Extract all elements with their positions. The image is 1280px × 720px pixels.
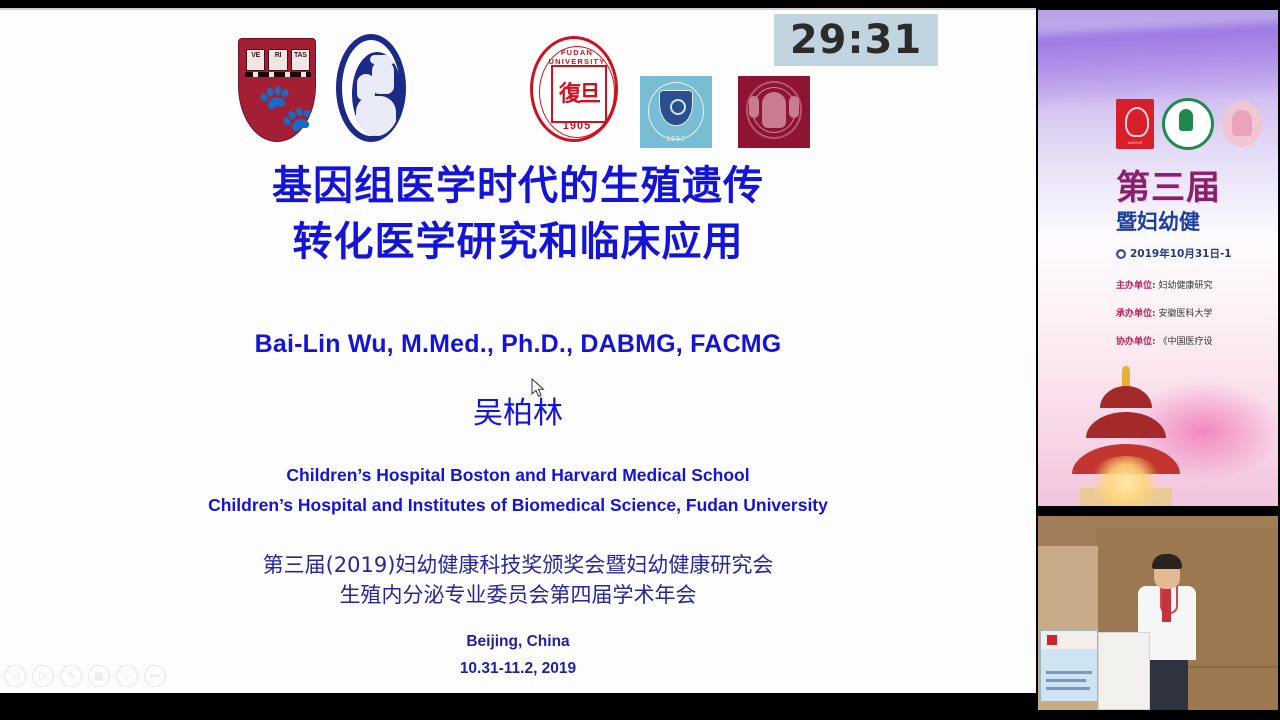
fudan-logo-year: 1905 [533,120,621,132]
conference-line-2: 生殖内分泌专业委员会第四届学术年会 [0,580,1036,610]
slide-top-border [0,8,1036,10]
ibs-emblem-icon [762,92,786,128]
fudan-university-logo: FUDAN UNIVERSITY 復旦 1905 [530,36,618,142]
event-place: Beijing, China [0,628,1036,655]
banner-organizer-1-value: 妇幼健康研究 [1158,281,1212,291]
conference-name: 第三届(2019)妇幼健康科技奖颁奖会暨妇幼健康研究会 生殖内分泌专业委员会第四… [0,550,1036,610]
harvard-motto-part: TAS [292,52,309,59]
chfu-logo-year: 1952 [640,136,712,143]
slide-title-line-1: 基因组医学时代的生殖遗传 [0,158,1036,214]
magnifier-icon: ⌕ [124,671,130,682]
boston-childrens-hospital-logo [336,34,406,142]
slide-title: 基因组医学时代的生殖遗传 转化医学研究和临床应用 [0,158,1036,270]
calendar-pin-icon: ● [1116,249,1126,259]
banner-organizer-1-label: 主办单位: [1116,281,1156,291]
affiliation-line-1: Children’s Hospital Boston and Harvard M… [0,460,1036,490]
harvard-books-icon: VE RI TAS [246,49,310,71]
fudan-seal-icon: FUDAN UNIVERSITY 復旦 1905 [530,36,618,142]
banner-purple-sweep [1038,20,1278,106]
more-options-button[interactable]: ••• [144,665,166,687]
banner-green-logo-icon [1162,98,1214,150]
bch-nurse-child-icon [352,52,402,136]
affiliation-line-2: Children’s Hospital and Institutes of Bi… [0,490,1036,520]
banner-subtitle: 暨妇幼健 [1116,206,1200,236]
banner-organizer-3-value: 《中国医疗设 [1158,337,1212,347]
banner-date-text: 2019年10月31日-1 [1130,248,1232,260]
conference-line-1: 第三届(2019)妇幼健康科技奖颁奖会暨妇幼健康研究会 [0,550,1036,580]
slide-grid-button[interactable]: ▦ [88,665,110,687]
banner-logo-row: AMCHS [1116,98,1262,150]
pen-icon: ✎ [67,671,75,682]
author-name-chinese: 吴柏林 [0,388,1036,432]
timer-value: 29:31 [790,17,922,63]
banner-organizer-3: 协办单位: 《中国医疗设 [1116,334,1213,347]
harvard-lion-icon: 🐾 [257,81,299,133]
harvard-band [245,72,311,77]
ellipsis-icon: ••• [150,671,161,682]
banner-organizer-3-label: 协办单位: [1116,337,1156,347]
fudan-logo-top-text: FUDAN UNIVERSITY [533,48,621,66]
slide-canvas[interactable]: VE RI TAS 🐾 [0,8,1036,693]
author-name-english: Bai-Lin Wu, M.Med., Ph.D., DABMG, FACMG [0,330,1036,359]
conference-banner-video[interactable]: AMCHS 第三届 暨妇幼健 ●2019年10月31日-1 主办单位: 妇幼健康… [1036,8,1280,508]
next-slide-icon: ▷ [39,671,47,682]
bch-oval-frame [336,34,406,142]
countdown-timer: 29:31 [774,14,938,66]
slide-toolbar[interactable]: ◁ ▷ ✎ ▦ ⌕ ••• [4,665,166,687]
banner-third-logo-icon [1222,101,1262,147]
fudan-logo-center-text: 復旦 [551,65,607,123]
temple-of-heaven-illustration [1066,360,1186,506]
previous-slide-button[interactable]: ◁ [4,665,26,687]
mouse-cursor [531,378,545,398]
banner-title: 第三届 [1116,160,1221,209]
childrens-hospital-fudan-logo: 1952 [640,76,712,148]
previous-slide-icon: ◁ [11,671,19,682]
harvard-motto-part: VE [247,52,264,59]
banner-organizer-2-label: 承办单位: [1116,309,1156,319]
podium-monitor [1040,630,1098,702]
speaker-video[interactable] [1036,512,1280,712]
banner-organizer-1: 主办单位: 妇幼健康研究 [1116,278,1213,291]
conference-banner: AMCHS 第三届 暨妇幼健 ●2019年10月31日-1 主办单位: 妇幼健康… [1038,10,1278,506]
harvard-shield-icon: VE RI TAS 🐾 [238,38,316,142]
speaker-at-podium [1038,516,1278,710]
banner-red-logo-icon: AMCHS [1116,99,1154,149]
podium [1098,632,1150,710]
harvard-medical-school-logo: VE RI TAS 🐾 [238,38,316,142]
zoom-button[interactable]: ⌕ [116,665,138,687]
institutes-biomedical-science-logo [738,76,810,148]
banner-organizer-2-value: 安徽医科大学 [1158,309,1212,319]
banner-date: ●2019年10月31日-1 [1116,246,1232,261]
grid-icon: ▦ [94,671,103,682]
next-slide-button[interactable]: ▷ [32,665,54,687]
presentation-viewer: VE RI TAS 🐾 [0,0,1280,720]
banner-organizer-2: 承办单位: 安徽医科大学 [1116,306,1213,319]
slide-title-line-2: 转化医学研究和临床应用 [0,214,1036,270]
harvard-motto-part: RI [269,52,286,59]
pen-annotate-button[interactable]: ✎ [60,665,82,687]
affiliations: Children’s Hospital Boston and Harvard M… [0,460,1036,520]
